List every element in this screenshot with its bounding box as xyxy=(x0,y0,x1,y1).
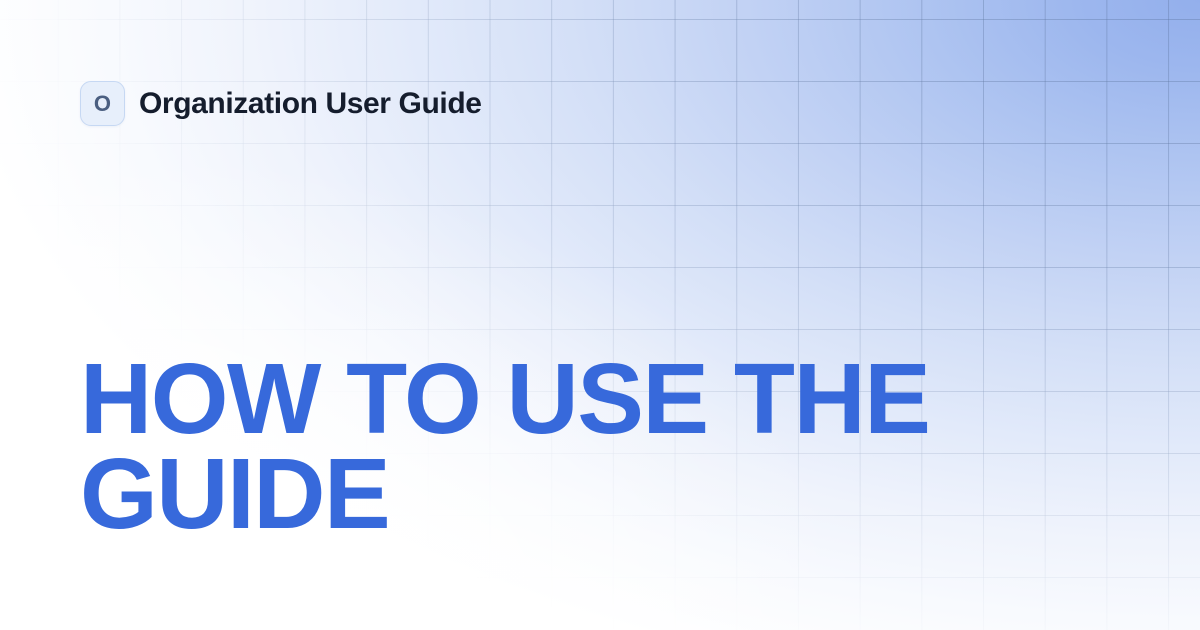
page-title: HOW TO USE THE GUIDE xyxy=(80,352,1080,542)
brand-lockup: O Organization User Guide xyxy=(80,81,482,126)
og-cover-card: O Organization User Guide HOW TO USE THE… xyxy=(0,0,1200,630)
brand-title: Organization User Guide xyxy=(139,87,482,120)
cover-content: O Organization User Guide HOW TO USE THE… xyxy=(0,0,1200,630)
badge-letter: O xyxy=(94,93,111,115)
organization-badge-icon: O xyxy=(80,81,125,126)
